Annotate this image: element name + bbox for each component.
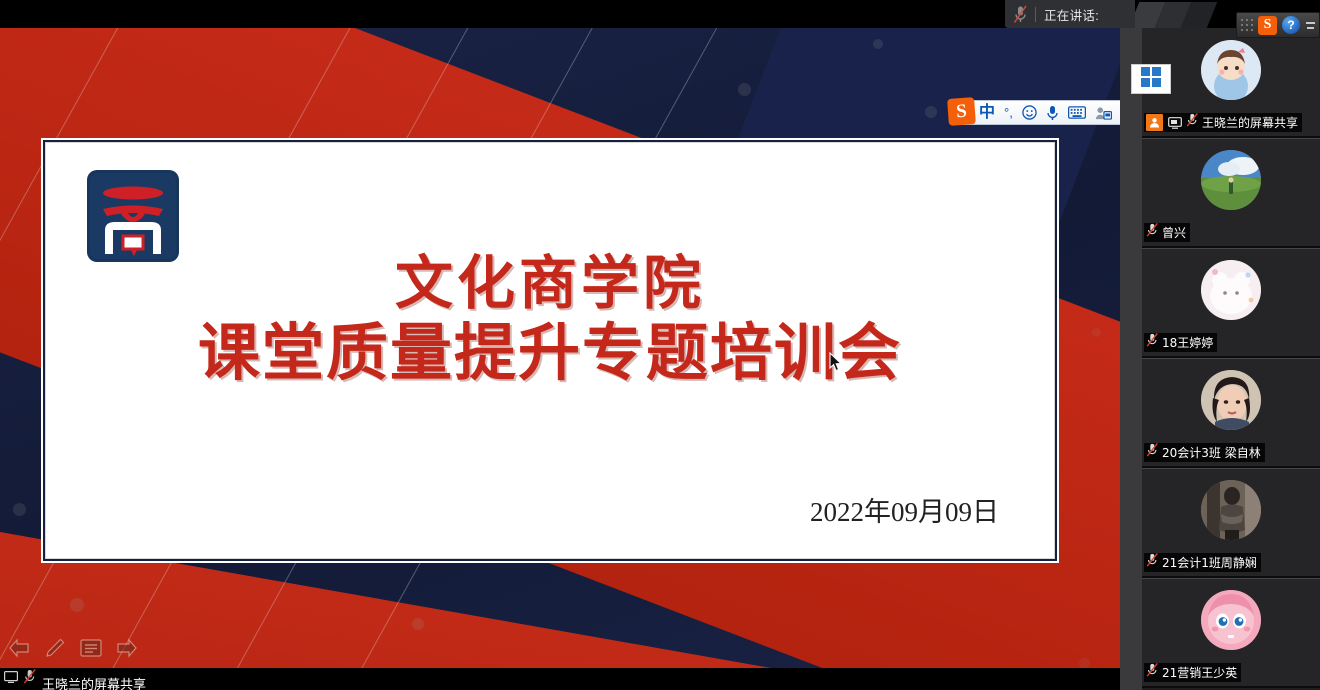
avatar bbox=[1201, 370, 1261, 430]
microphone-muted-icon bbox=[1146, 443, 1159, 462]
previous-slide-button[interactable] bbox=[6, 636, 32, 660]
emoji-icon[interactable] bbox=[1022, 105, 1037, 120]
participant-tile[interactable]: 21营销王少英 bbox=[1142, 578, 1320, 688]
sogou-ime-toolbar[interactable]: S 中 °, bbox=[956, 100, 1120, 125]
participant-name: 王晓兰的屏幕共享 bbox=[1202, 114, 1298, 131]
participant-name-tag: 王晓兰的屏幕共享 bbox=[1144, 113, 1302, 132]
slide-title-line-2: 课堂质量提升专题培训会 bbox=[49, 317, 1051, 389]
participants-panel: 王晓兰的屏幕共享 bbox=[1120, 0, 1320, 690]
sogou-logo-icon[interactable]: S bbox=[1258, 16, 1277, 35]
participant-name-tag: 21会计1班周静娴 bbox=[1144, 553, 1261, 572]
slide-content-card: 文化商学院 课堂质量提升专题培训会 2022年09月09日 bbox=[46, 143, 1054, 558]
avatar bbox=[1201, 40, 1261, 100]
screen-share-status-bar: 王晓兰的屏幕共享 bbox=[0, 668, 1120, 690]
sogou-logo-icon[interactable]: S bbox=[947, 97, 976, 126]
layout-switch-popup[interactable] bbox=[1131, 64, 1171, 94]
microphone-muted-icon bbox=[1146, 553, 1159, 572]
participant-name: 21会计1班周静娴 bbox=[1162, 554, 1257, 571]
shared-slide-area: 文化商学院 课堂质量提升专题培训会 2022年09月09日 S 中 °, bbox=[0, 28, 1120, 668]
participant-tile[interactable]: 曾兴 bbox=[1142, 138, 1320, 248]
participants-list: 王晓兰的屏幕共享 bbox=[1142, 28, 1320, 690]
slide-title-line-1: 文化商学院 bbox=[49, 250, 1051, 317]
microphone-muted-icon bbox=[1005, 0, 1035, 28]
collapse-toolbar-button[interactable] bbox=[1306, 22, 1315, 29]
decorative-chevrons bbox=[1130, 2, 1225, 28]
microphone-muted-icon bbox=[1146, 663, 1159, 682]
participant-tile[interactable]: 20会计3班 梁自林 bbox=[1142, 358, 1320, 468]
now-speaking-indicator: 正在讲话: bbox=[1005, 0, 1135, 28]
slide-title-block: 文化商学院 课堂质量提升专题培训会 bbox=[49, 250, 1051, 389]
participant-name-tag: 20会计3班 梁自林 bbox=[1144, 443, 1265, 462]
grid-layout-icon[interactable] bbox=[1141, 67, 1161, 92]
soft-keyboard-icon[interactable] bbox=[1068, 106, 1086, 119]
slide-date: 2022年09月09日 bbox=[810, 490, 999, 529]
avatar bbox=[1201, 150, 1261, 210]
participant-name: 20会计3班 梁自林 bbox=[1162, 444, 1261, 461]
share-status-label: 王晓兰的屏幕共享 bbox=[42, 674, 146, 690]
participant-tile[interactable]: 21会计1班周静娴 bbox=[1142, 468, 1320, 578]
share-screen-icon bbox=[4, 670, 18, 688]
sogou-floating-toolbar[interactable]: S ? bbox=[1236, 12, 1320, 38]
host-badge bbox=[1146, 114, 1163, 131]
top-bar: 正在讲话: bbox=[0, 0, 1320, 28]
microphone-muted-icon bbox=[1146, 223, 1159, 242]
user-center-icon[interactable] bbox=[1095, 106, 1112, 120]
presenter-controls[interactable] bbox=[6, 636, 140, 660]
help-icon[interactable]: ? bbox=[1282, 16, 1300, 34]
avatar bbox=[1201, 480, 1261, 540]
now-speaking-label: 正在讲话: bbox=[1044, 5, 1099, 24]
mouse-cursor bbox=[829, 352, 843, 377]
pen-tool-button[interactable] bbox=[42, 636, 68, 660]
next-slide-button[interactable] bbox=[114, 636, 140, 660]
participant-name-tag: 18王婷婷 bbox=[1144, 333, 1217, 352]
screen-share-icon bbox=[1166, 115, 1183, 130]
participant-name: 曾兴 bbox=[1162, 224, 1186, 241]
screen-share-meeting-window: 正在讲话: S ? bbox=[0, 0, 1320, 690]
participant-name: 18王婷婷 bbox=[1162, 334, 1213, 351]
slide-menu-button[interactable] bbox=[78, 636, 104, 660]
drag-grip-icon[interactable] bbox=[1239, 15, 1255, 35]
avatar bbox=[1201, 590, 1261, 650]
microphone-muted-icon bbox=[1186, 113, 1199, 132]
participant-name: 21营销王少英 bbox=[1162, 664, 1237, 681]
microphone-muted-icon bbox=[1146, 333, 1159, 352]
punctuation-icon[interactable]: °, bbox=[1004, 106, 1013, 119]
avatar bbox=[1201, 260, 1261, 320]
voice-input-icon[interactable] bbox=[1046, 105, 1059, 121]
microphone-muted-icon bbox=[23, 669, 37, 689]
participant-tile[interactable]: 18王婷婷 bbox=[1142, 248, 1320, 358]
chinese-mode-icon[interactable]: 中 bbox=[979, 105, 995, 121]
participant-name-tag: 曾兴 bbox=[1144, 223, 1190, 242]
participant-name-tag: 21营销王少英 bbox=[1144, 663, 1241, 682]
